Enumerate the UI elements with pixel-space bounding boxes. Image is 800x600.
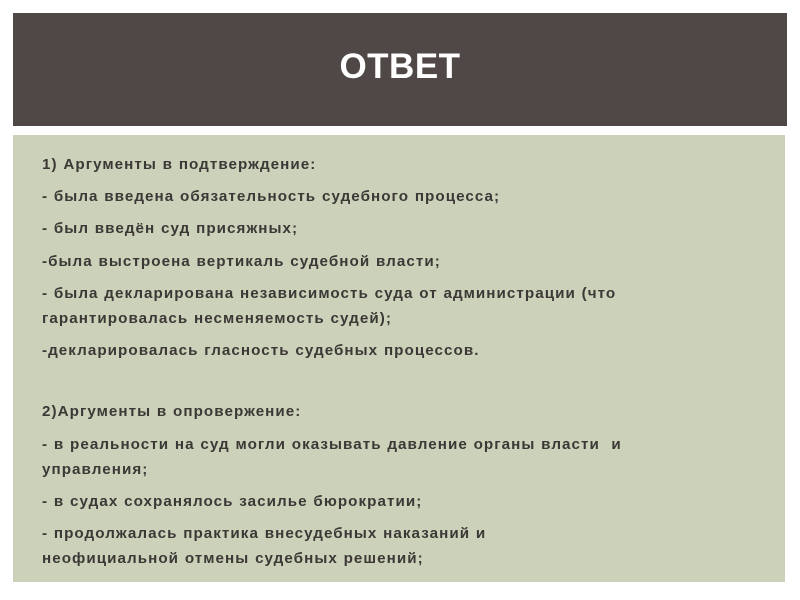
body-line: - в судах сохранялось засилье бюрократии…	[42, 487, 765, 516]
slide-body-panel: 1) Аргументы в подтверждение:- была введ…	[13, 135, 785, 582]
body-line: - была введена обязательность судебного …	[42, 182, 765, 211]
body-line: управления;	[42, 455, 765, 484]
body-line: -была выстроена вертикаль судебной власт…	[42, 247, 765, 276]
slide-title-banner: ОТВЕТ	[13, 13, 787, 126]
argument-list: 1) Аргументы в подтверждение:- была введ…	[42, 150, 765, 582]
body-line: 2)Аргументы в опровержение:	[42, 397, 765, 426]
page-title: ОТВЕТ	[339, 48, 460, 91]
body-line: - сохранился сословный волостной крестья…	[42, 577, 765, 582]
body-line: -декларировалась гласность судебных проц…	[42, 336, 765, 365]
body-line: - был введён суд присяжных;	[42, 214, 765, 243]
body-line-spacer	[42, 365, 765, 394]
body-line: 1) Аргументы в подтверждение:	[42, 150, 765, 179]
body-line: гарантировалась несменяемость судей);	[42, 304, 765, 333]
presentation-slide: ОТВЕТ 1) Аргументы в подтверждение:- был…	[0, 0, 800, 600]
body-line: неофициальной отмены судебных решений;	[42, 544, 765, 573]
